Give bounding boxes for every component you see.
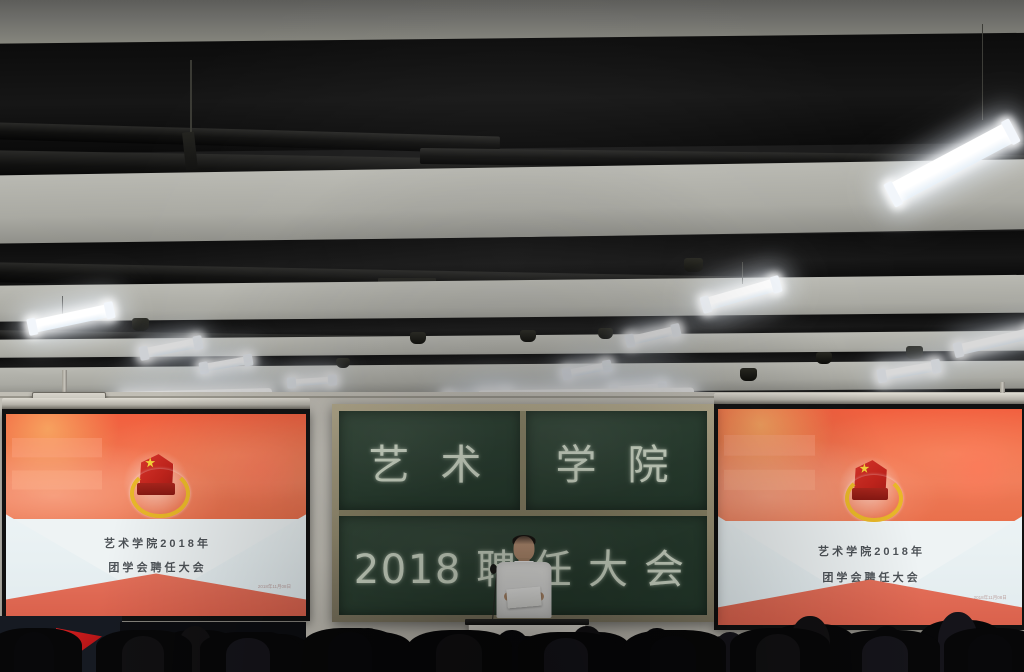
track-spotlight-5: [684, 258, 703, 272]
chalk-text-top-right: 学 院: [526, 411, 707, 510]
audience: [0, 577, 1024, 672]
screen-roller-left: [2, 398, 310, 409]
lecture-hall-photo: 艺 术 学 院 2 0 1 8 年 团 学 会 聘 任 大 会 2018年11月…: [0, 0, 1024, 672]
ribbon-motif-right: [931, 422, 1010, 517]
audience-head-front: [544, 638, 588, 672]
track-spotlight-6: [740, 368, 757, 381]
communist-youth-league-emblem-icon-right: [842, 457, 898, 517]
track-spotlight-2: [410, 332, 426, 344]
track-spotlight-3: [520, 330, 536, 342]
tiananmen-motif-left: [12, 438, 102, 511]
audience-head-front: [226, 638, 270, 672]
sprinkler-drop-1: [190, 60, 192, 142]
tiananmen-motif-right: [724, 435, 815, 513]
audience-head-front: [436, 634, 482, 672]
audience-head-front: [328, 632, 372, 672]
track-spotlight-8: [906, 346, 923, 359]
slide-title-line1-left: 艺 术 学 院 2 0 1 8 年: [6, 535, 306, 551]
screen-roller-right: [714, 393, 1024, 404]
audience-head-front: [122, 636, 164, 672]
audience-head-front: [756, 634, 800, 672]
communist-youth-league-emblem-icon: [127, 450, 185, 512]
track-spotlight-7: [816, 352, 832, 364]
projector-mount-left: [62, 370, 67, 394]
slide-title-line1-right: 艺 术 学 院 2 0 1 8 年: [718, 543, 1022, 559]
audience-head-front: [650, 636, 696, 672]
track-spotlight-9: [336, 358, 350, 368]
ribbon-motif-left: [216, 426, 294, 515]
track-spotlight-1: [132, 318, 149, 331]
chalk-text-top-left: 艺 术: [339, 411, 520, 510]
audience-head-front: [968, 634, 1012, 672]
blackboard-pane-top-left: 艺 术: [339, 411, 520, 510]
lamp-stem-1: [982, 24, 983, 120]
audience-head-front: [862, 636, 908, 672]
blackboard-pane-top-right: 学 院: [526, 411, 707, 510]
slide-title-line2-left: 团 学 会 聘 任 大 会: [6, 559, 306, 575]
track-spotlight-4: [598, 328, 613, 339]
audience-head-front: [14, 632, 54, 672]
lamp-stem-2: [742, 262, 743, 284]
